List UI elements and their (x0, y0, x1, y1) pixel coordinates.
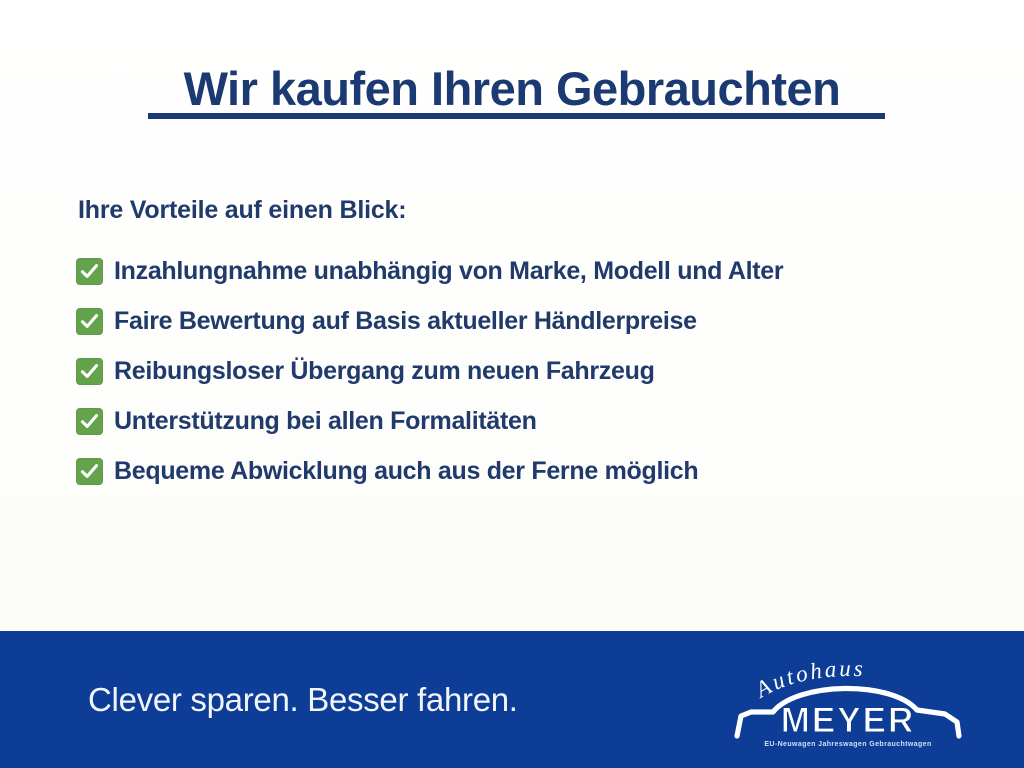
check-square-icon (76, 408, 103, 435)
title-underline (148, 113, 885, 119)
list-item-label: Reibungsloser Übergang zum neuen Fahrzeu… (114, 357, 655, 386)
list-item-label: Faire Bewertung auf Basis aktueller Händ… (114, 307, 697, 336)
footer-tagline: Clever sparen. Besser fahren. (88, 681, 518, 719)
check-square-icon (76, 358, 103, 385)
logo-subtitle: EU-Neuwagen Jahreswagen Gebrauchtwagen (764, 741, 931, 748)
logo-block-name: MEYER (781, 701, 915, 740)
advantages-list: Inzahlungnahme unabhängig von Marke, Mod… (76, 246, 976, 496)
list-item: Unterstützung bei allen Formalitäten (76, 396, 976, 446)
dealer-logo: Autohaus MEYER EU-Neuwagen Jahreswagen G… (731, 648, 966, 752)
page-title: Wir kaufen Ihren Gebrauchten (0, 64, 1024, 119)
advantages-subheading: Ihre Vorteile auf einen Blick: (78, 196, 406, 225)
footer-bar: Clever sparen. Besser fahren. Autohaus (0, 631, 1024, 768)
slide-canvas: Wir kaufen Ihren Gebrauchten Ihre Vortei… (0, 0, 1024, 768)
check-square-icon (76, 258, 103, 285)
check-square-icon (76, 308, 103, 335)
logo-script-name: Autohaus (750, 655, 866, 702)
page-title-text: Wir kaufen Ihren Gebrauchten (180, 64, 845, 119)
list-item: Inzahlungnahme unabhängig von Marke, Mod… (76, 246, 976, 296)
list-item: Reibungsloser Übergang zum neuen Fahrzeu… (76, 346, 976, 396)
list-item: Faire Bewertung auf Basis aktueller Händ… (76, 296, 976, 346)
list-item: Bequeme Abwicklung auch aus der Ferne mö… (76, 446, 976, 496)
list-item-label: Inzahlungnahme unabhängig von Marke, Mod… (114, 257, 783, 286)
check-square-icon (76, 458, 103, 485)
list-item-label: Unterstützung bei allen Formalitäten (114, 407, 537, 436)
svg-text:Autohaus: Autohaus (750, 655, 866, 702)
list-item-label: Bequeme Abwicklung auch aus der Ferne mö… (114, 457, 698, 486)
